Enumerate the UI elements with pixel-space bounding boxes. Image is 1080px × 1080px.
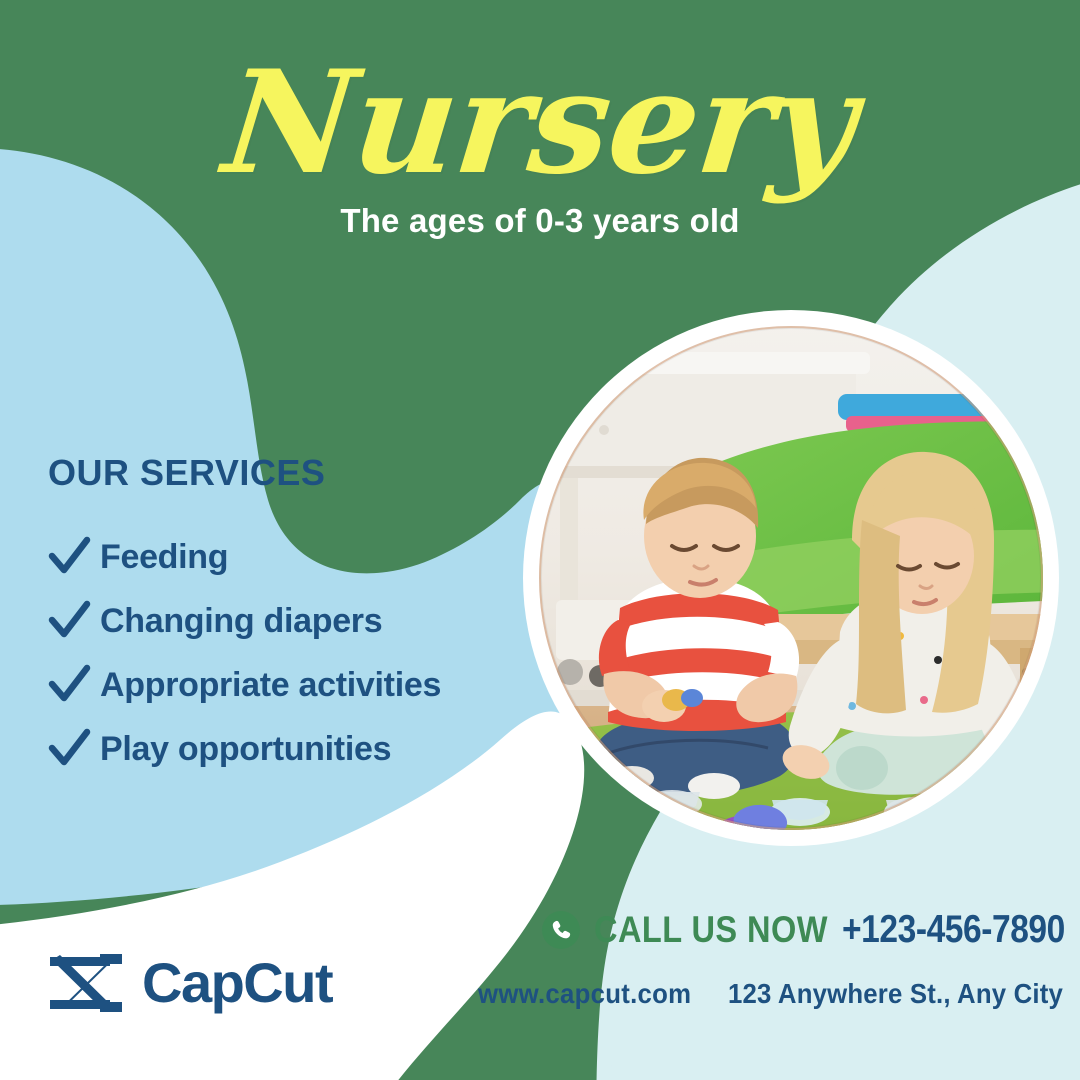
page-subtitle: The ages of 0-3 years old xyxy=(0,202,1080,240)
website-link[interactable]: www.capcut.com xyxy=(478,978,691,1010)
capcut-logo-icon xyxy=(48,954,124,1012)
check-icon xyxy=(48,664,92,706)
check-icon xyxy=(48,536,92,578)
website-address-row: www.capcut.com 123 Anywhere St., Any Cit… xyxy=(470,978,1060,1010)
poster-canvas: Nursery The ages of 0-3 years old OUR SE… xyxy=(0,0,1080,1080)
call-row: CALL US NOW +123-456-7890 xyxy=(470,908,1060,952)
list-item: Changing diapers xyxy=(48,600,518,642)
contact-section: CALL US NOW +123-456-7890 www.capcut.com… xyxy=(470,908,1060,1010)
phone-number[interactable]: +123-456-7890 xyxy=(842,908,1065,952)
list-item: Appropriate activities xyxy=(48,664,518,706)
services-heading: OUR SERVICES xyxy=(48,452,518,494)
capcut-logo-text: CapCut xyxy=(142,950,332,1015)
services-section: OUR SERVICES Feeding Changing diapers xyxy=(48,452,518,792)
capcut-logo: CapCut xyxy=(48,950,332,1015)
header-block: Nursery The ages of 0-3 years old xyxy=(0,52,1080,240)
check-icon xyxy=(48,600,92,642)
service-label: Appropriate activities xyxy=(100,666,441,705)
service-label: Feeding xyxy=(100,538,228,577)
phone-icon xyxy=(542,911,580,949)
call-us-now-label: CALL US NOW xyxy=(594,909,828,951)
list-item: Feeding xyxy=(48,536,518,578)
service-label: Changing diapers xyxy=(100,602,382,641)
check-icon xyxy=(48,728,92,770)
page-title: Nursery xyxy=(0,52,1080,194)
service-label: Play opportunities xyxy=(100,730,391,769)
list-item: Play opportunities xyxy=(48,728,518,770)
address-text: 123 Anywhere St., Any City xyxy=(728,978,1063,1010)
